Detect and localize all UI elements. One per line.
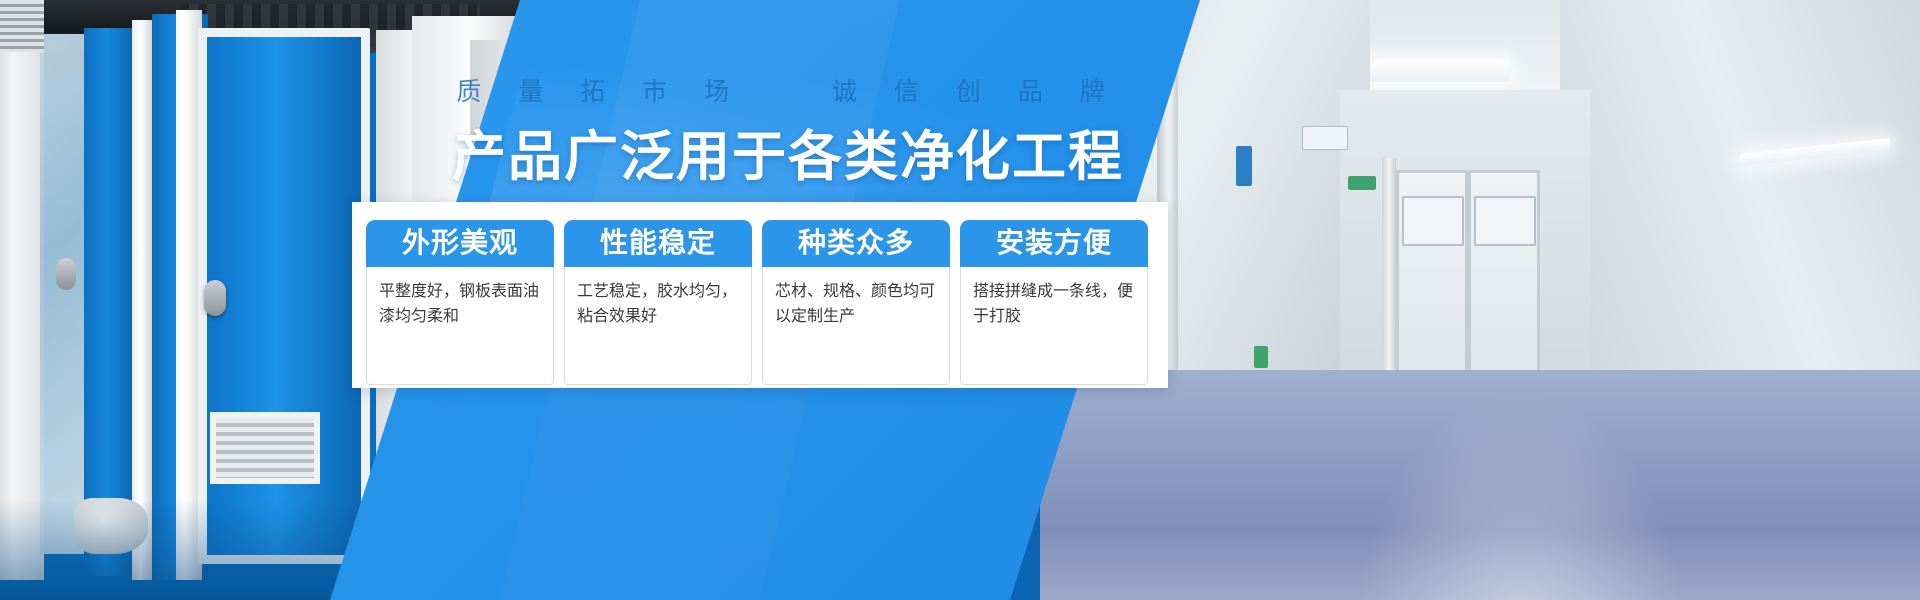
feature-card-title: 外形美观 — [366, 220, 554, 267]
vent-grille-top-left — [0, 0, 44, 52]
feature-card-body: 平整度好，钢板表面油漆均匀柔和 — [366, 267, 554, 385]
end-door-window-a — [1402, 196, 1464, 246]
feature-card-body: 工艺稳定，胶水均匀，粘合效果好 — [564, 267, 752, 385]
end-door-window-b — [1474, 196, 1536, 246]
door-vent-grille — [210, 412, 320, 484]
feature-card: 种类众多 芯材、规格、颜色均可以定制生产 — [762, 220, 950, 385]
feature-card: 性能稳定 工艺稳定，胶水均匀，粘合效果好 — [564, 220, 752, 385]
feature-card-strip: 外形美观 平整度好，钢板表面油漆均匀柔和 性能稳定 工艺稳定，胶水均匀，粘合效果… — [352, 202, 1168, 388]
feature-card-title: 安装方便 — [960, 220, 1148, 267]
door-lock-icon — [56, 258, 76, 290]
promo-banner: 质 量 拓 市 场 诚 信 创 品 牌 产品广泛用于各类净化工程 外形美观 平整… — [0, 0, 1920, 600]
feature-card-body: 搭接拼缝成一条线，便于打胶 — [960, 267, 1148, 385]
door-handle-icon — [204, 280, 226, 316]
feature-card-title: 性能稳定 — [564, 220, 752, 267]
feature-card-body: 芯材、规格、颜色均可以定制生产 — [762, 267, 950, 385]
feature-card-title: 种类众多 — [762, 220, 950, 267]
wall-marker-green — [1254, 346, 1268, 368]
banner-subtitle: 质 量 拓 市 场 诚 信 创 品 牌 — [0, 72, 1576, 108]
banner-headline: 产品广泛用于各类净化工程 — [0, 112, 1576, 191]
feature-card: 安装方便 搭接拼缝成一条线，便于打胶 — [960, 220, 1148, 385]
floor-light-reflection — [1340, 370, 1700, 600]
feature-card: 外形美观 平整度好，钢板表面油漆均匀柔和 — [366, 220, 554, 385]
cabin-panel-blue-a — [84, 28, 136, 576]
